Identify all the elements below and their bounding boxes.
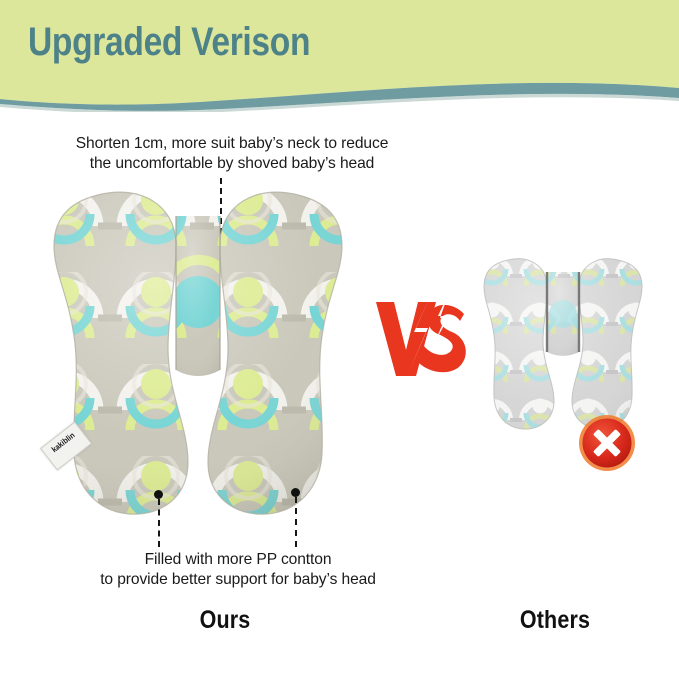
caption-ours: Ours (156, 606, 294, 635)
leader-dot-bottom-right (291, 488, 300, 497)
leader-dot-bottom-left (154, 490, 163, 499)
product-ours-image: kakiblin (18, 180, 378, 520)
others-center-strap (543, 266, 585, 362)
vs-mark (372, 288, 472, 388)
reject-badge (578, 414, 636, 472)
leader-line-bottom-right (295, 497, 297, 547)
header-banner: Upgraded Verison (0, 0, 679, 112)
annotation-top-text: Shorten 1cm, more suit baby’s neck to re… (22, 134, 442, 174)
page-title: Upgraded Verison (28, 21, 310, 63)
leader-line-bottom-left (158, 499, 160, 547)
product-comparison-image: Upgraded Verison Shorten 1cm, more suit … (0, 0, 679, 679)
annotation-bottom-text: Filled with more PP contton to provide b… (58, 550, 418, 590)
caption-others: Others (486, 606, 624, 635)
